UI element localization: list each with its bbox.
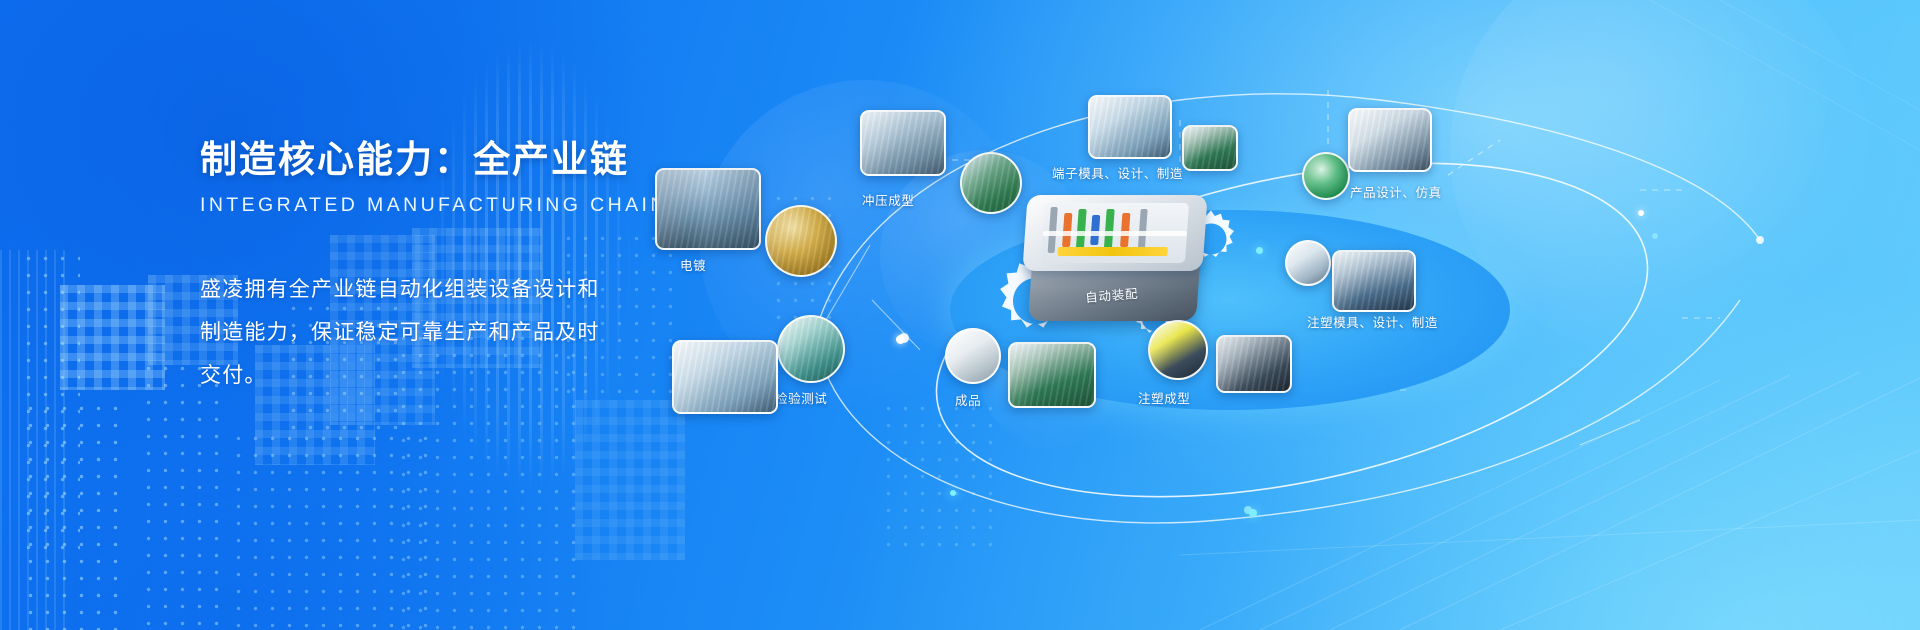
glow-dot-1 bbox=[896, 335, 905, 344]
glow-dot-4 bbox=[1638, 210, 1644, 216]
mold-plate bbox=[1057, 247, 1168, 256]
node-terminal-mold-thumbnail[interactable] bbox=[1088, 95, 1172, 159]
mold-pin bbox=[1076, 209, 1087, 249]
node-stamping-label: 冲压成型 bbox=[862, 190, 914, 209]
mold-pin bbox=[1048, 207, 1058, 253]
node-plating-thumbnail[interactable] bbox=[655, 168, 761, 250]
node-injection-mold-thumbnail[interactable] bbox=[1332, 250, 1416, 312]
page-title: 制造核心能力：全产业链 bbox=[200, 140, 620, 181]
node-green-box-thumbnail[interactable] bbox=[1302, 152, 1350, 200]
node-stamping-thumbnail[interactable] bbox=[860, 110, 946, 176]
page-description: 盛凌拥有全产业链自动化组装设备设计和制造能力，保证稳定可靠生产和产品及时交付。 bbox=[200, 268, 620, 398]
node-product-design-thumbnail[interactable] bbox=[1348, 108, 1432, 172]
node-injection-mold-label: 注塑模具、设计、制造 bbox=[1307, 312, 1438, 331]
node-finished-product-thumbnail[interactable] bbox=[945, 328, 1001, 384]
mold-pin bbox=[1120, 213, 1130, 247]
node-plating-label: 电镀 bbox=[680, 255, 706, 274]
node-tool-part-thumbnail[interactable] bbox=[1285, 240, 1331, 286]
node-machine-green-thumbnail[interactable] bbox=[1182, 125, 1238, 171]
hub-mold-illustration: 自动装配 bbox=[1025, 195, 1205, 325]
mold-pin bbox=[1090, 215, 1100, 245]
process-diagram: 自动装配 电镀 冲压成型 bbox=[620, 0, 1920, 630]
decor-dots-b bbox=[22, 400, 127, 630]
glow-dot-3 bbox=[1256, 247, 1263, 254]
node-operator-thumbnail[interactable] bbox=[672, 340, 778, 414]
node-plated-coil-thumbnail[interactable] bbox=[765, 205, 837, 277]
copy-block: 制造核心能力：全产业链 INTEGRATED MANUFACTURING CHA… bbox=[200, 140, 620, 397]
node-finished-product-label: 成品 bbox=[955, 390, 981, 409]
mold-parting-line bbox=[1043, 231, 1187, 236]
node-pcb-thumbnail[interactable] bbox=[960, 152, 1022, 214]
manufacturing-capability-banner: 制造核心能力：全产业链 INTEGRATED MANUFACTURING CHA… bbox=[0, 0, 1920, 630]
node-inspection-test-label: 检验测试 bbox=[775, 388, 827, 407]
node-terminal-mold-label: 端子模具、设计、制造 bbox=[1052, 163, 1183, 182]
node-dark-machine-thumbnail[interactable] bbox=[1216, 335, 1292, 393]
node-injection-molding-label: 注塑成型 bbox=[1138, 388, 1190, 407]
glow-dot-5 bbox=[950, 490, 956, 496]
decor-dots-c bbox=[140, 360, 220, 630]
page-subtitle: INTEGRATED MANUFACTURING CHAIN bbox=[200, 194, 620, 217]
node-inspection-test-thumbnail[interactable] bbox=[777, 315, 845, 383]
node-conveyor-green-thumbnail[interactable] bbox=[1008, 342, 1096, 408]
glow-dot-2 bbox=[1249, 509, 1257, 517]
node-injection-molding-thumbnail[interactable] bbox=[1148, 320, 1208, 380]
node-product-design-label: 产品设计、仿真 bbox=[1350, 182, 1442, 201]
mold-cavity bbox=[1041, 203, 1189, 263]
mold-pin bbox=[1062, 213, 1072, 247]
mold-pin bbox=[1104, 209, 1115, 249]
